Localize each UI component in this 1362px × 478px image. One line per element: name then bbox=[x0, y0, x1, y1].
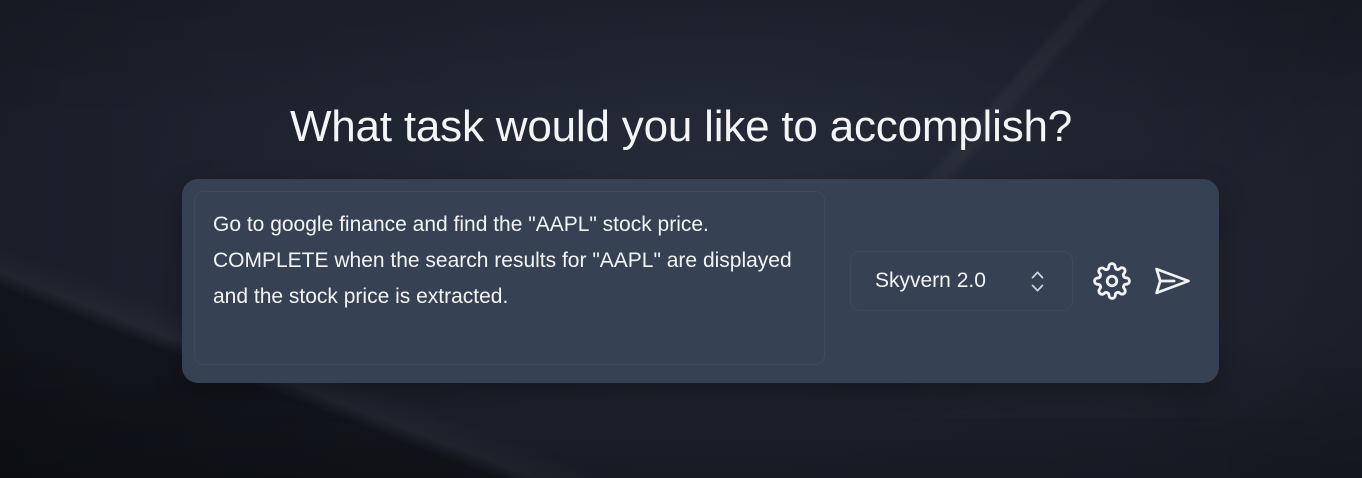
chevron-up-down-icon bbox=[1030, 268, 1044, 294]
settings-button[interactable] bbox=[1089, 258, 1135, 304]
model-select[interactable]: Skyvern 2.0 bbox=[850, 251, 1073, 311]
prompt-card-controls: Skyvern 2.0 bbox=[850, 179, 1195, 383]
model-select-value: Skyvern 2.0 bbox=[875, 269, 986, 293]
task-prompt-input[interactable] bbox=[194, 191, 825, 365]
page-title: What task would you like to accomplish? bbox=[0, 101, 1362, 153]
send-icon bbox=[1151, 260, 1193, 302]
send-button[interactable] bbox=[1149, 258, 1195, 304]
app-root: What task would you like to accomplish? … bbox=[0, 0, 1362, 478]
gear-icon bbox=[1093, 262, 1131, 300]
prompt-card: Skyvern 2.0 bbox=[182, 179, 1219, 383]
